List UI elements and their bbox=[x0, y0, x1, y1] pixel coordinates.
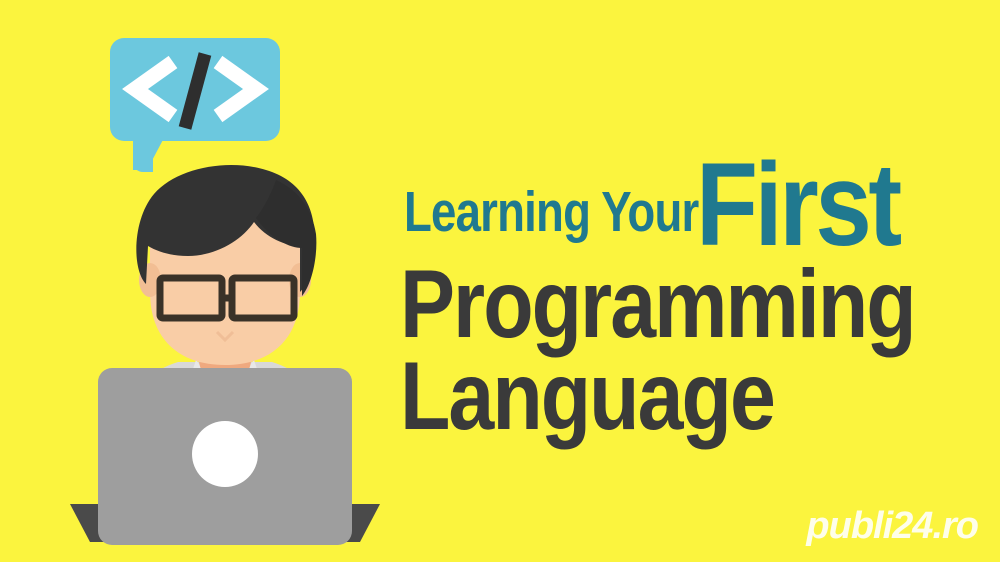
poster-canvas: Learning Your First Programming Language… bbox=[0, 0, 1000, 562]
slash-icon bbox=[185, 54, 205, 128]
laptop-logo-icon bbox=[192, 421, 258, 487]
speech-bubble-tail bbox=[133, 136, 165, 170]
title-line-one: Learning Your First bbox=[404, 158, 974, 232]
title-programming: Programming bbox=[400, 256, 915, 353]
left-chevron-icon bbox=[135, 62, 173, 116]
right-chevron-icon bbox=[218, 62, 256, 116]
title-language: Language bbox=[400, 348, 774, 445]
programmer-character-illustration bbox=[60, 160, 390, 562]
poster-title-block: Learning Your First Programming Language bbox=[404, 158, 974, 232]
title-learning-your: Learning Your bbox=[404, 184, 698, 241]
watermark-publi24: publi24.ro bbox=[806, 505, 978, 548]
title-first: First bbox=[696, 146, 899, 264]
code-brackets-icon bbox=[110, 38, 280, 141]
